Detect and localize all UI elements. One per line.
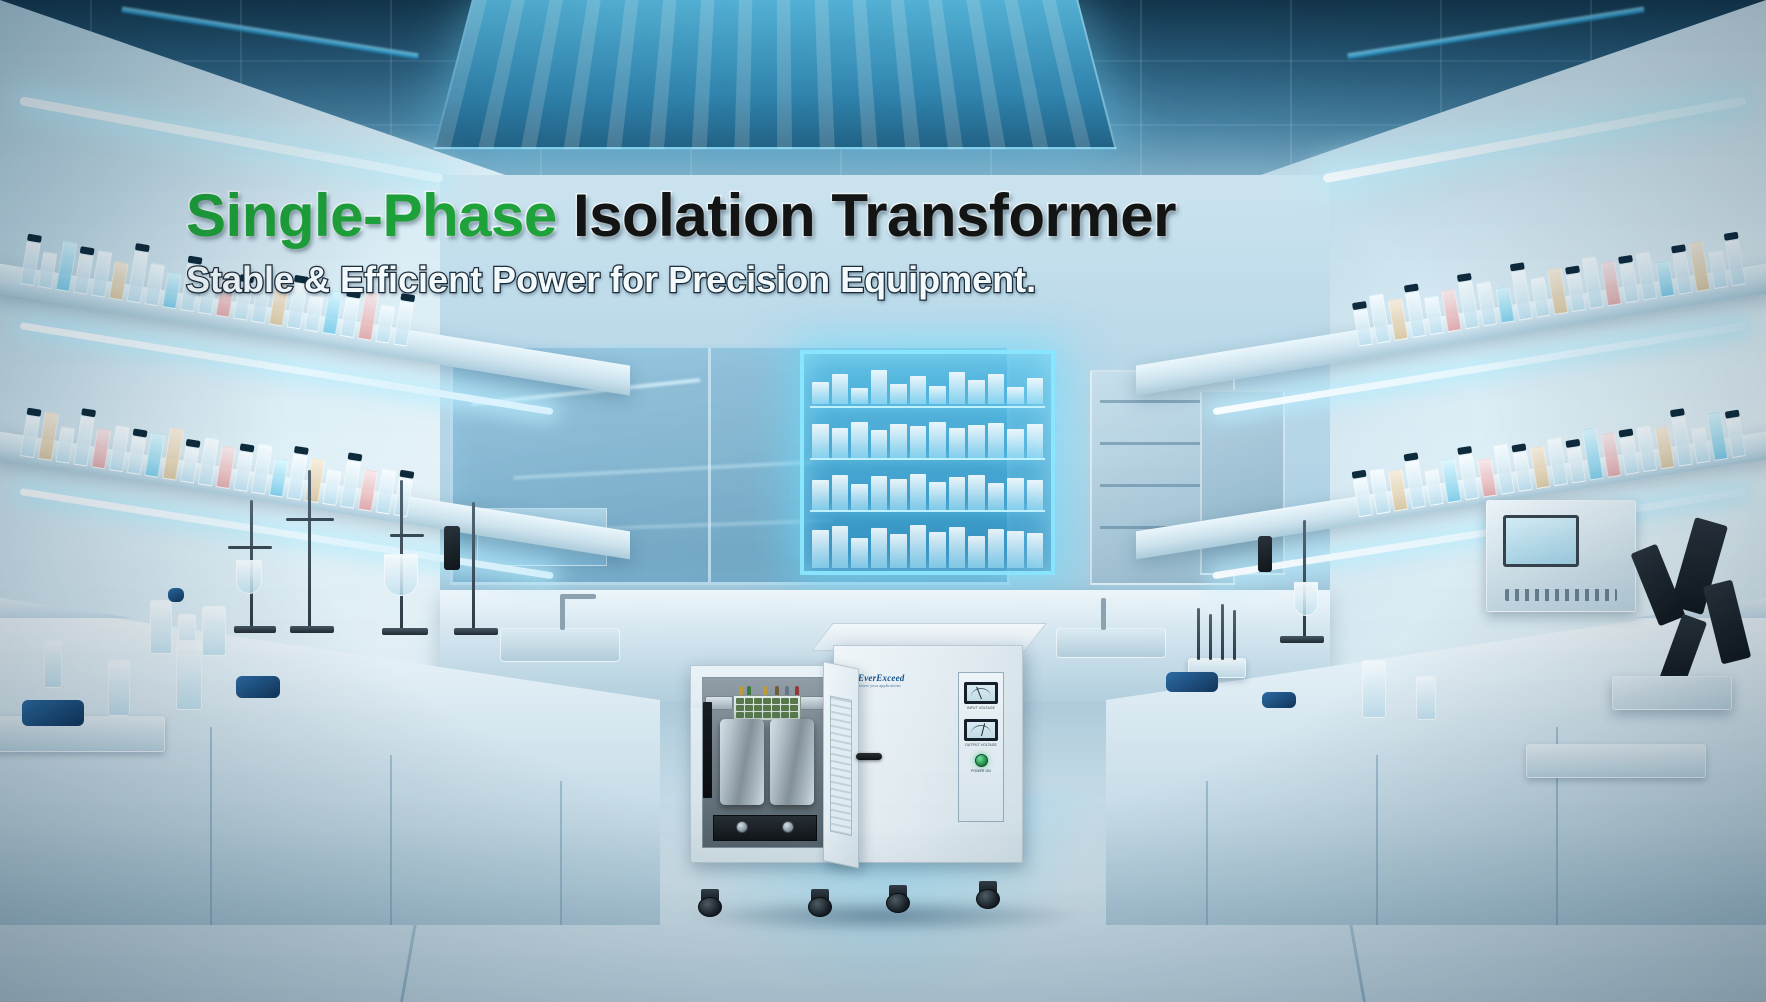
isolation-transformer-unit[interactable]: EverExceed power your applications INPUT… bbox=[690, 625, 1080, 915]
page-subtitle: Stable & Efficient Power for Precision E… bbox=[186, 260, 1176, 300]
brand-logo: EverExceed power your applications bbox=[858, 674, 904, 688]
brand-tagline: power your applications bbox=[858, 684, 904, 688]
instrument-screen[interactable] bbox=[1503, 515, 1579, 567]
flask-left-3 bbox=[44, 640, 62, 688]
terminal-block bbox=[733, 695, 801, 721]
cabinet-shelf-1 bbox=[810, 406, 1045, 408]
flask-right-2 bbox=[1416, 676, 1436, 720]
back-equipment-cabinet bbox=[1200, 390, 1285, 575]
output-voltage-meter bbox=[964, 719, 998, 741]
cabinet-shelf-2 bbox=[810, 458, 1045, 460]
analytical-instrument-right bbox=[1486, 500, 1636, 612]
cabinet-bottles-row-4 bbox=[812, 524, 1043, 568]
faucet-spout-left bbox=[560, 594, 596, 599]
page-title: Single-Phase Isolation Transformer bbox=[186, 186, 1176, 246]
mounting-bracket-right bbox=[797, 696, 825, 710]
headline-accent: Single-Phase bbox=[186, 182, 557, 249]
power-indicator-led bbox=[975, 754, 988, 767]
blue-lab-item-right-2 bbox=[1262, 692, 1296, 708]
cabinet-bottles-row-1 bbox=[812, 368, 1043, 404]
flask-left-1 bbox=[108, 660, 130, 716]
breaker-module bbox=[703, 702, 712, 798]
headline-main: Isolation Transformer bbox=[557, 182, 1176, 249]
hero-text-block: Single-Phase Isolation Transformer Stabl… bbox=[186, 186, 1176, 300]
sink-left bbox=[500, 628, 620, 662]
cabinet-bottles-row-2 bbox=[812, 420, 1043, 458]
blue-lab-item-left-2 bbox=[236, 676, 280, 698]
door-ventilation-louvers bbox=[830, 695, 852, 836]
transformer-coil-1 bbox=[720, 719, 764, 805]
glass-reflection-2 bbox=[513, 460, 813, 480]
cabinet-door[interactable] bbox=[823, 661, 859, 869]
power-indicator-label: POWER ON bbox=[959, 769, 1003, 773]
faucet-left bbox=[560, 596, 565, 630]
control-panel[interactable]: INPUT VOLTAGE OUTPUT VOLTAGE POWER ON bbox=[958, 672, 1004, 822]
cabinet-shelf-3 bbox=[810, 510, 1045, 512]
caster-back-right bbox=[976, 881, 1000, 909]
caster-front-left bbox=[698, 889, 722, 917]
faucet-right bbox=[1101, 598, 1106, 630]
keyboard-tray-right[interactable] bbox=[1526, 744, 1706, 778]
door-handle[interactable] bbox=[856, 753, 882, 760]
hero-banner: EverExceed power your applications INPUT… bbox=[0, 0, 1766, 1002]
base-mounting-rail bbox=[713, 815, 817, 841]
caster-back-left bbox=[886, 885, 910, 913]
flask-right-1 bbox=[1362, 660, 1386, 718]
transformer-interior bbox=[702, 677, 828, 848]
unit-shadow bbox=[684, 899, 1084, 933]
ceiling-skylight-panel bbox=[433, 0, 1117, 149]
brand-name: EverExceed bbox=[858, 673, 904, 683]
blue-lab-item-left bbox=[22, 700, 84, 726]
input-voltage-meter bbox=[964, 682, 998, 704]
transformer-coil-2 bbox=[770, 719, 814, 805]
instrument-buttons[interactable] bbox=[1505, 589, 1617, 601]
output-voltage-label: OUTPUT VOLTAGE bbox=[959, 743, 1003, 747]
caster-front-right bbox=[808, 889, 832, 917]
cabinet-bottles-row-3 bbox=[812, 472, 1043, 510]
flask-left-2 bbox=[176, 640, 202, 710]
blue-lab-item-right bbox=[1166, 672, 1218, 692]
glowing-display-cabinet bbox=[800, 350, 1055, 575]
cabinet-open-section bbox=[690, 665, 840, 863]
input-voltage-label: INPUT VOLTAGE bbox=[959, 706, 1003, 710]
